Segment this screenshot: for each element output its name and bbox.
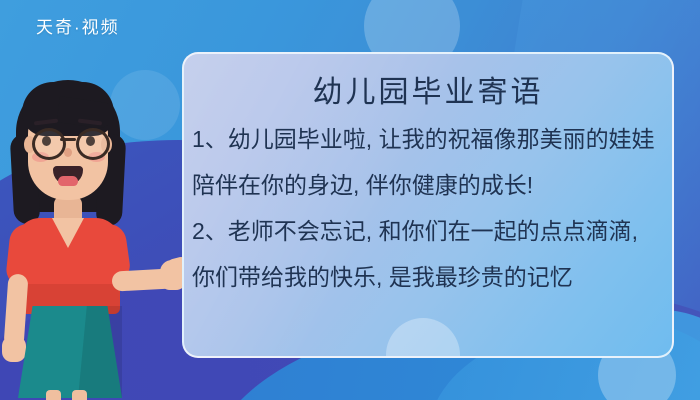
leg-right (72, 390, 87, 400)
card-content: 幼儿园毕业寄语 1、幼儿园毕业啦, 让我的祝福像那美丽的娃娃 陪伴在你的身边, … (184, 54, 672, 300)
card-body: 1、幼儿园毕业啦, 让我的祝福像那美丽的娃娃 陪伴在你的身边, 伴你健康的成长!… (184, 116, 672, 300)
glasses-bridge (60, 138, 76, 141)
leg-left (46, 390, 61, 400)
card-decorative-circle (386, 318, 460, 358)
card-title: 幼儿园毕业寄语 (184, 74, 672, 112)
nose (64, 148, 72, 157)
tongue (58, 176, 78, 186)
card-line-1: 1、幼儿园毕业啦, 让我的祝福像那美丽的娃娃 (184, 116, 672, 162)
hand-left (2, 336, 26, 362)
message-card: 幼儿园毕业寄语 1、幼儿园毕业啦, 让我的祝福像那美丽的娃娃 陪伴在你的身边, … (182, 52, 674, 358)
watermark-logo: 天奇·视频 (36, 13, 120, 38)
video-frame: 天奇·视频 (0, 0, 700, 400)
glasses-lens-left (32, 128, 66, 160)
card-line-2: 陪伴在你的身边, 伴你健康的成长! (184, 162, 672, 208)
card-line-3: 2、老师不会忘记, 和你们在一起的点点滴滴, (184, 208, 672, 254)
glasses-lens-right (76, 128, 110, 160)
teacher-illustration (0, 78, 180, 400)
card-line-4: 你们带给我的快乐, 是我最珍贵的记忆 (184, 254, 672, 300)
